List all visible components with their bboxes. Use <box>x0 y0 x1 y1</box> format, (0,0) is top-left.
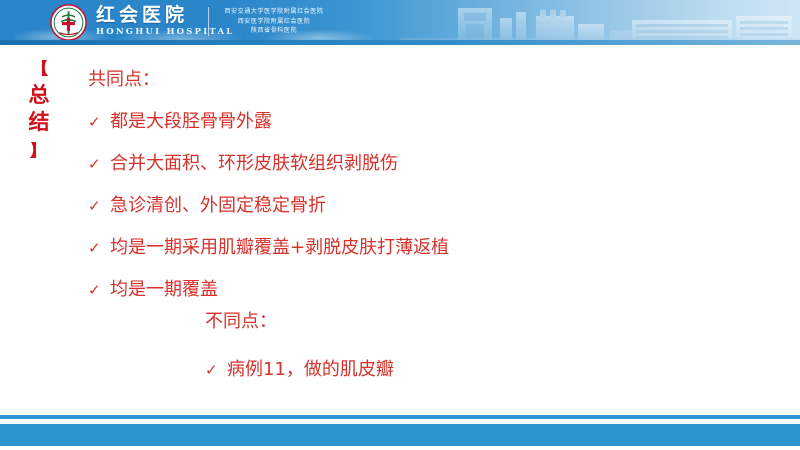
section-tag-char-2: 结 <box>25 109 53 136</box>
check-icon: ✓ <box>205 358 227 382</box>
bracket-open: 【 <box>25 60 53 76</box>
affiliation-line-3: 陕西省骨科医院 <box>219 26 329 36</box>
header-banner: 红会医院 HONGHUI HOSPITAL 西安交通大学医学院附属红会医院 西安… <box>0 0 800 45</box>
hospital-logo-icon <box>50 4 87 41</box>
heading-common-points: 共同点： <box>88 68 160 92</box>
header-bottom-band <box>0 40 800 45</box>
skyline-image <box>400 4 800 44</box>
list-item-label: 合并大面积、环形皮肤软组织剥脱伤 <box>110 153 398 174</box>
list-item-label: 均是一期覆盖 <box>110 279 218 300</box>
section-tag-summary: 【 总 结 】 <box>25 60 53 158</box>
check-icon: ✓ <box>88 152 110 176</box>
list-item: ✓均是一期覆盖 <box>88 278 218 302</box>
list-item-label: 急诊清创、外固定稳定骨折 <box>110 195 326 216</box>
heading-differences: 不同点： <box>205 310 277 334</box>
list-item-label: 都是大段胫骨骨外露 <box>110 111 272 132</box>
logo-divider <box>208 7 209 36</box>
bracket-close: 】 <box>25 142 53 158</box>
list-item: ✓均是一期采用肌瓣覆盖+剥脱皮肤打薄返植 <box>88 236 449 260</box>
affiliation-line-1: 西安交通大学医学院附属红会医院 <box>219 7 329 17</box>
footer-bar <box>0 424 800 446</box>
list-item-label: 病例11，做的肌皮瓣 <box>227 359 394 380</box>
affiliation-line-2: 西安医学院附属红会医院 <box>219 17 329 27</box>
check-icon: ✓ <box>88 236 110 260</box>
hospital-name-en: HONGHUI HOSPITAL <box>96 27 234 37</box>
list-item: ✓都是大段胫骨骨外露 <box>88 110 272 134</box>
check-icon: ✓ <box>88 278 110 302</box>
hospital-affiliations: 西安交通大学医学院附属红会医院 西安医学院附属红会医院 陕西省骨科医院 <box>219 7 329 36</box>
section-tag-char-1: 总 <box>25 82 53 109</box>
footer-thin-bar <box>0 415 800 419</box>
hospital-name-cn: 红会医院 <box>96 5 188 26</box>
slide-content: 共同点： ✓都是大段胫骨骨外露 ✓合并大面积、环形皮肤软组织剥脱伤 ✓急诊清创、… <box>0 0 800 450</box>
check-icon: ✓ <box>88 194 110 218</box>
list-item: ✓急诊清创、外固定稳定骨折 <box>88 194 326 218</box>
list-item: ✓合并大面积、环形皮肤软组织剥脱伤 <box>88 152 398 176</box>
check-icon: ✓ <box>88 110 110 134</box>
list-item-label: 均是一期采用肌瓣覆盖+剥脱皮肤打薄返植 <box>110 237 449 258</box>
list-item: ✓病例11，做的肌皮瓣 <box>205 358 394 382</box>
